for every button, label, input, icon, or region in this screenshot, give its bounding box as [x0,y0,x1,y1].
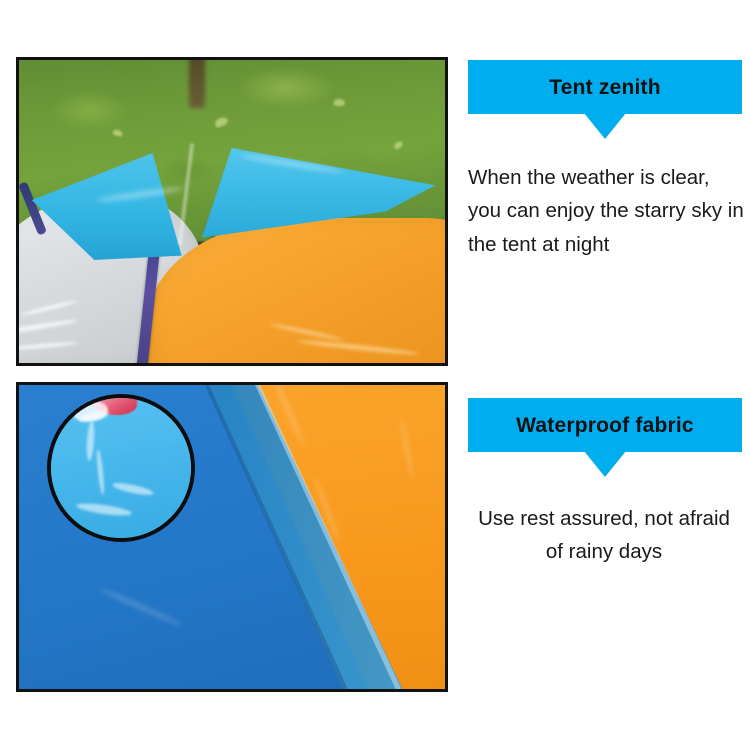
feature-section-waterproof-fabric: Waterproof fabric Use rest assured, not … [0,382,750,692]
feature-text-column-tent-zenith: Tent zenith When the weather is clear, y… [468,57,750,369]
feature-banner-title: Tent zenith [468,60,742,114]
feature-banner-title: Waterproof fabric [468,398,742,452]
photo-canvas-tent-zenith [19,60,445,363]
fabric-crease [270,323,344,342]
feature-description: When the weather is clear, you can enjoy… [468,161,744,261]
photo-canvas-waterproof-fabric [19,385,445,689]
feature-text-column-waterproof-fabric: Waterproof fabric Use rest assured, not … [468,382,750,708]
canopy-panel-left [32,153,240,260]
feature-photo-waterproof-fabric [16,382,448,692]
banner-wrapper: Waterproof fabric [468,398,742,452]
infographic-page: Tent zenith When the weather is clear, y… [0,0,750,750]
canopy-ridge-seam [178,143,194,245]
tree-trunk [189,60,205,108]
blue-canopy-rainfly [32,133,432,260]
banner-pointer-icon [584,113,626,139]
feature-section-tent-zenith: Tent zenith When the weather is clear, y… [0,57,750,366]
feature-photo-tent-zenith [16,57,448,366]
fabric-crease [297,338,420,356]
banner-wrapper: Tent zenith [468,60,742,114]
banner-pointer-icon [584,451,626,477]
magnified-fabric [47,394,195,542]
magnifier-inset [47,394,195,542]
feature-description: Use rest assured, not afraid of rainy da… [468,502,740,568]
fabric-crease [21,299,78,317]
fabric-crease [19,340,78,351]
fabric-crease [19,318,78,337]
canopy-panel-right [192,133,440,242]
